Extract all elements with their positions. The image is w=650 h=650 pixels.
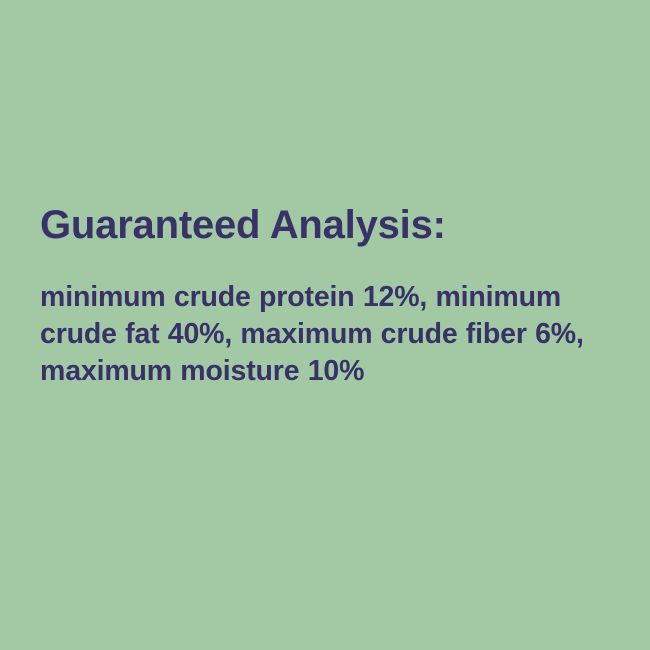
- analysis-content-block: Guaranteed Analysis: minimum crude prote…: [40, 202, 620, 390]
- page-title: Guaranteed Analysis:: [40, 202, 620, 248]
- guaranteed-analysis-text: minimum crude protein 12%, minimum crude…: [40, 248, 610, 390]
- guaranteed-analysis-card: Guaranteed Analysis: minimum crude prote…: [0, 0, 650, 650]
